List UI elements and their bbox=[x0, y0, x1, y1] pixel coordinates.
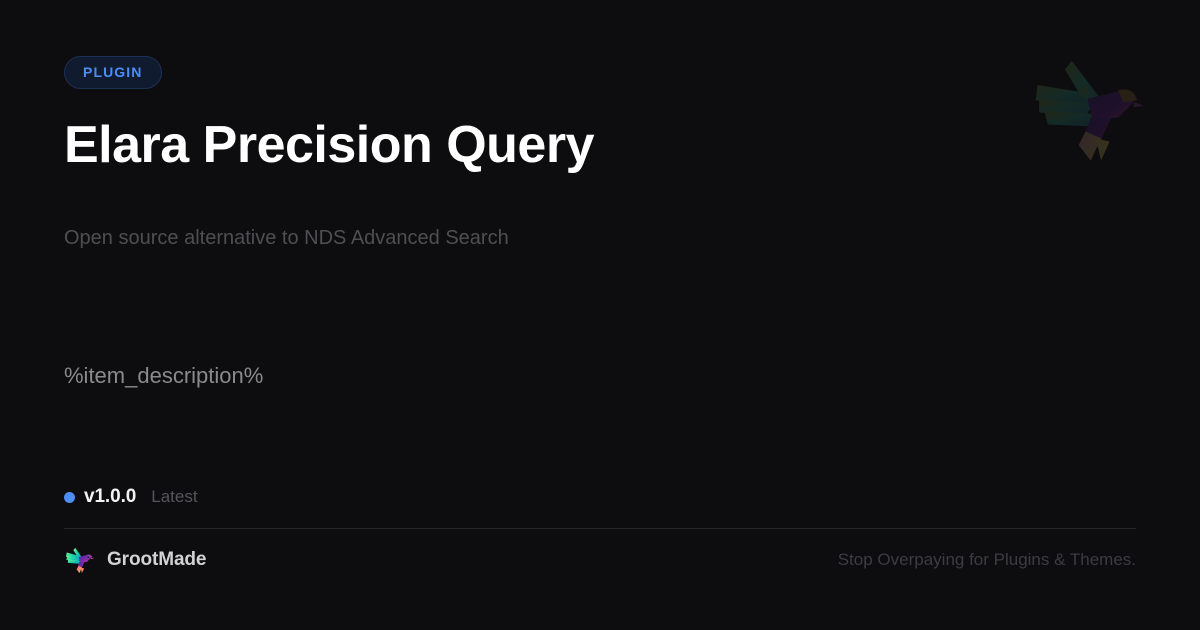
footer-tagline: Stop Overpaying for Plugins & Themes. bbox=[838, 550, 1136, 570]
version-status-dot-icon bbox=[64, 492, 75, 503]
author-name: GrootMade bbox=[107, 549, 206, 571]
version-row: v1.0.0 Latest bbox=[64, 486, 198, 508]
item-description: %item_description% bbox=[64, 360, 263, 392]
page-title: Elara Precision Query bbox=[64, 116, 594, 174]
author-block: GrootMade bbox=[64, 545, 206, 575]
status-badge: PLUGIN bbox=[64, 56, 162, 89]
page-subtitle: Open source alternative to NDS Advanced … bbox=[64, 224, 509, 252]
footer-divider bbox=[64, 528, 1136, 529]
card-footer: GrootMade Stop Overpaying for Plugins & … bbox=[64, 545, 1136, 575]
version-tag: Latest bbox=[151, 487, 197, 507]
hummingbird-logo-icon bbox=[64, 545, 94, 575]
badge-container: PLUGIN bbox=[64, 56, 162, 89]
og-preview-card: PLUGIN Elara Precision Query Open source… bbox=[0, 0, 1200, 630]
version-number: v1.0.0 bbox=[84, 486, 136, 508]
